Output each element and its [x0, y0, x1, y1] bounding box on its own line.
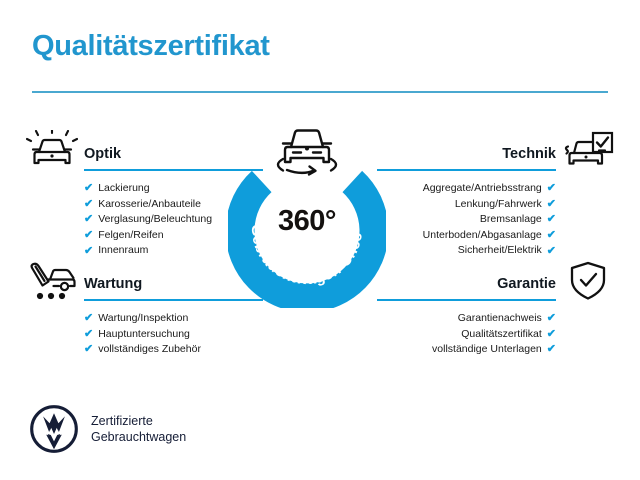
check-icon: ✔	[84, 183, 93, 194]
section-title: Optik	[84, 146, 121, 162]
section-divider	[377, 299, 556, 301]
check-icon: ✔	[84, 344, 93, 355]
checklist: Garantienachweis✔ Qualitätszertifikat✔ v…	[369, 311, 614, 358]
list-item-label: Lenkung/Fahrwerk	[455, 197, 542, 213]
check-icon: ✔	[547, 344, 556, 355]
list-item: ✔Hauptuntersuchung	[26, 327, 271, 343]
check-icon: ✔	[84, 313, 93, 324]
section-title: Garantie	[497, 276, 556, 292]
check-icon: ✔	[547, 183, 556, 194]
check-icon: ✔	[547, 313, 556, 324]
section-title: Wartung	[84, 276, 142, 292]
check-icon: ✔	[84, 246, 93, 257]
list-item: Sicherheit/Elektrik✔	[369, 243, 614, 259]
section-header: Technik	[369, 130, 614, 172]
list-item: Unterboden/Abgasanlage✔	[369, 228, 614, 244]
vw-logo	[30, 405, 78, 453]
section-garantie: Garantie Garantienachweis✔ Qualitätszert…	[369, 260, 614, 358]
list-item-label: Wartung/Inspektion	[98, 311, 188, 327]
section-divider	[377, 169, 556, 171]
list-item-label: Unterboden/Abgasanlage	[423, 228, 542, 244]
list-item-label: vollständiges Zubehör	[98, 342, 201, 358]
badge-360-check: Gebrauchtwagen-Check 360°	[228, 150, 386, 308]
check-icon: ✔	[84, 199, 93, 210]
list-item-label: Sicherheit/Elektrik	[458, 243, 542, 259]
list-item-label: Karosserie/Anbauteile	[98, 197, 201, 213]
car-checkbox-icon	[562, 130, 614, 172]
list-item-label: Garantienachweis	[458, 311, 542, 327]
wrench-car-icon	[26, 260, 78, 302]
list-item: Lenkung/Fahrwerk✔	[369, 197, 614, 213]
title-divider	[32, 91, 608, 93]
check-icon: ✔	[547, 230, 556, 241]
badge-center-label: 360°	[228, 205, 386, 238]
list-item: ✔Wartung/Inspektion	[26, 311, 271, 327]
list-item-label: Verglasung/Beleuchtung	[98, 212, 212, 228]
check-icon: ✔	[547, 329, 556, 340]
list-item: vollständige Unterlagen✔	[369, 342, 614, 358]
check-icon: ✔	[547, 199, 556, 210]
list-item: Bremsanlage✔	[369, 212, 614, 228]
car-rotate-icon	[269, 123, 345, 179]
footer-brand: Zertifizierte Gebrauchtwagen	[30, 405, 186, 453]
section-title: Technik	[502, 146, 556, 162]
car-shine-icon	[26, 130, 78, 172]
check-icon: ✔	[84, 214, 93, 225]
shield-check-icon	[562, 260, 614, 302]
check-icon: ✔	[547, 214, 556, 225]
checklist: ✔Wartung/Inspektion ✔Hauptuntersuchung ✔…	[26, 311, 271, 358]
list-item: Aggregate/Antriebsstrang✔	[369, 181, 614, 197]
check-icon: ✔	[84, 329, 93, 340]
list-item: ✔vollständiges Zubehör	[26, 342, 271, 358]
list-item: Garantienachweis✔	[369, 311, 614, 327]
check-icon: ✔	[547, 246, 556, 257]
check-icon: ✔	[84, 230, 93, 241]
list-item-label: Felgen/Reifen	[98, 228, 163, 244]
section-technik: Technik Aggregate/Antriebsstrang✔ Lenkun…	[369, 130, 614, 259]
section-header: Garantie	[369, 260, 614, 302]
checklist: Aggregate/Antriebsstrang✔ Lenkung/Fahrwe…	[369, 181, 614, 259]
list-item-label: Innenraum	[98, 243, 148, 259]
footer-text: Zertifizierte Gebrauchtwagen	[91, 413, 186, 445]
list-item-label: vollständige Unterlagen	[432, 342, 542, 358]
list-item-label: Lackierung	[98, 181, 149, 197]
list-item-label: Qualitätszertifikat	[461, 327, 542, 343]
list-item-label: Hauptuntersuchung	[98, 327, 190, 343]
list-item-label: Aggregate/Antriebsstrang	[423, 181, 542, 197]
page-title: Qualitätszertifikat	[32, 30, 270, 63]
list-item: Qualitätszertifikat✔	[369, 327, 614, 343]
list-item-label: Bremsanlage	[480, 212, 542, 228]
